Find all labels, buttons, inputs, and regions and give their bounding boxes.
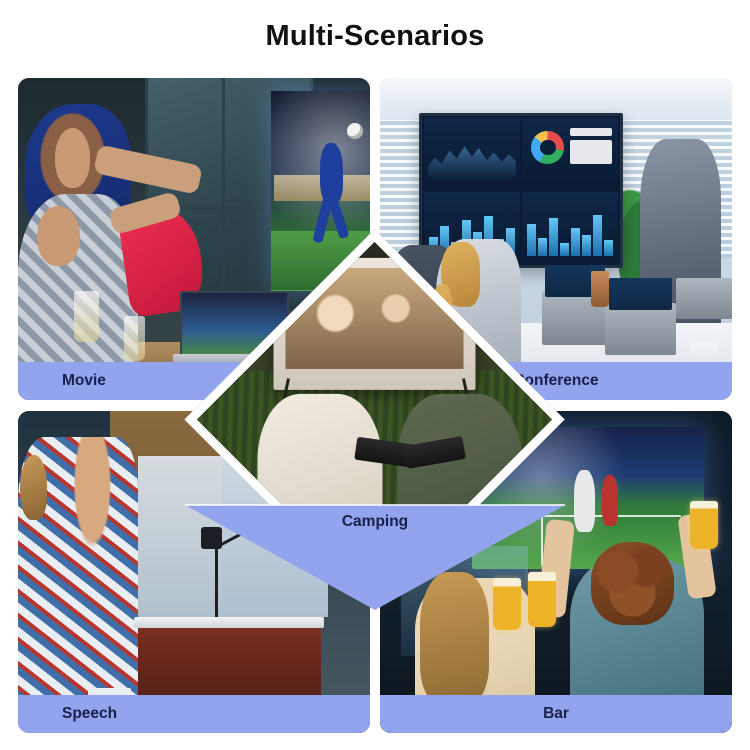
scenario-caption-speech: Speech xyxy=(18,695,370,733)
multi-scenarios-poster: Multi-Scenarios xyxy=(0,0,750,750)
scenario-card-movie[interactable]: Movie xyxy=(18,78,370,400)
scenario-caption-bar: Bar xyxy=(380,695,732,733)
scenario-caption-movie: Movie xyxy=(18,362,370,400)
scenario-label: Bar xyxy=(543,705,569,723)
scenario-grid: Movie xyxy=(18,78,732,733)
bar-photo xyxy=(380,411,732,733)
scenario-card-speech[interactable]: Speech xyxy=(18,411,370,733)
speech-photo xyxy=(18,411,370,733)
scenario-card-conference[interactable]: Conference xyxy=(380,78,732,400)
scenario-label: Speech xyxy=(62,705,117,723)
scenario-label: Movie xyxy=(62,372,106,390)
page-title: Multi-Scenarios xyxy=(0,20,750,53)
scenario-label: Conference xyxy=(513,372,598,390)
conference-photo xyxy=(380,78,732,400)
scenario-card-bar[interactable]: Bar xyxy=(380,411,732,733)
movie-photo xyxy=(18,78,370,400)
scenario-caption-conference: Conference xyxy=(380,362,732,400)
